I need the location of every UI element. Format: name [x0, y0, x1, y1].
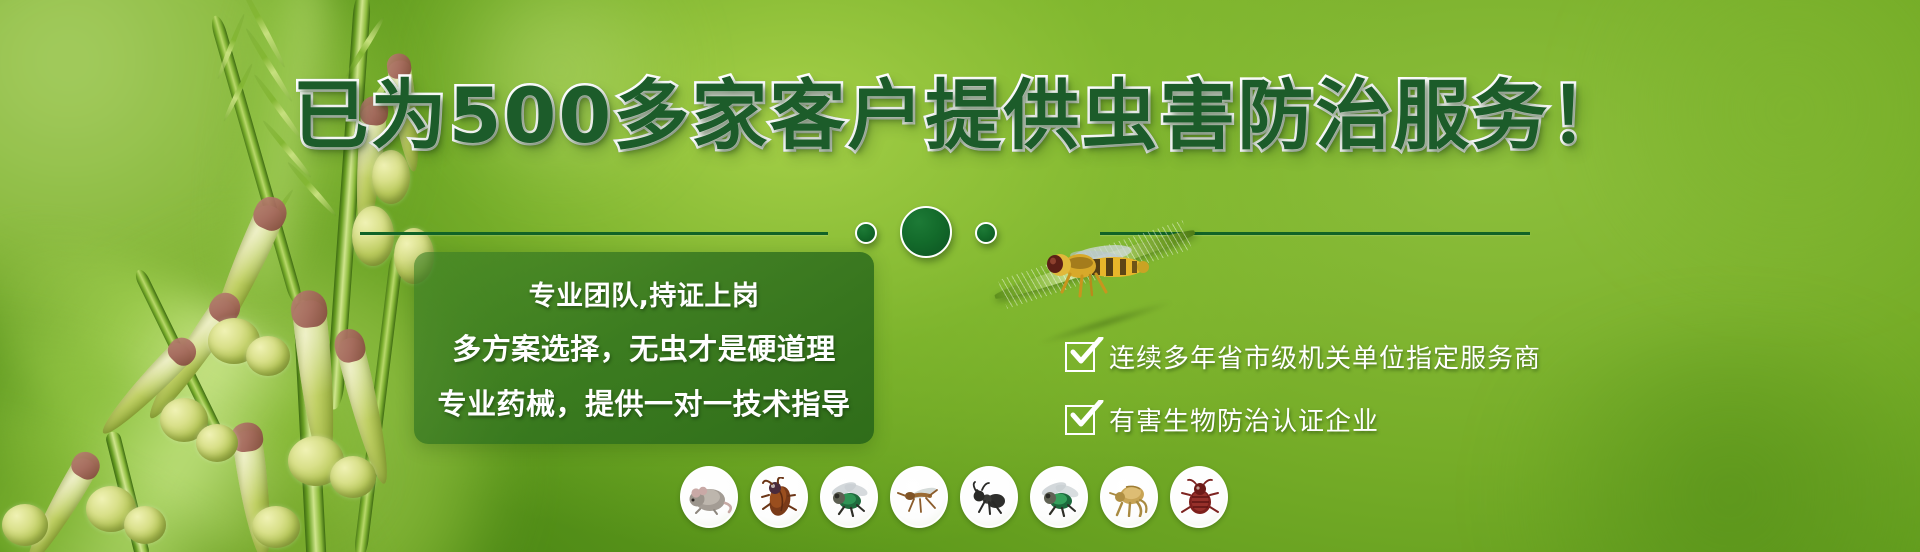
mouse-icon	[686, 477, 732, 517]
blowfly-icon	[1036, 477, 1082, 517]
checkbox-checked-icon	[1065, 405, 1095, 435]
decor-dot-large	[900, 206, 952, 258]
bedbug-icon	[1176, 477, 1222, 517]
pest-chip-flea[interactable]	[1100, 466, 1158, 528]
feature-line-3: 专业药械，提供一对一技术指导	[437, 381, 850, 423]
divider-left	[360, 232, 828, 235]
pest-chip-mosquito[interactable]	[890, 466, 948, 528]
credential-label: 有害生物防治认证企业	[1109, 401, 1379, 438]
decor-dot-small-right	[975, 222, 997, 244]
pest-chip-cockroach[interactable]	[750, 466, 808, 528]
checkbox-checked-icon	[1065, 342, 1095, 372]
fly-icon	[826, 477, 872, 517]
flea-icon	[1106, 477, 1152, 517]
decor-dot-small-left	[855, 222, 877, 244]
pest-type-strip	[680, 466, 1228, 528]
pest-chip-ant[interactable]	[960, 466, 1018, 528]
pest-chip-fly[interactable]	[820, 466, 878, 528]
credential-label: 连续多年省市级机关单位指定服务商	[1109, 338, 1541, 375]
feature-line-1: 专业团队,持证上岗	[529, 274, 760, 313]
feature-panel: 专业团队,持证上岗 多方案选择，无虫才是硬道理 专业药械，提供一对一技术指导	[414, 252, 874, 444]
pest-chip-bedbug[interactable]	[1170, 466, 1228, 528]
cockroach-icon	[756, 477, 802, 517]
mosquito-icon	[896, 477, 942, 517]
hoverfly-image	[1040, 240, 1158, 300]
page-title: 已为500多家客户提供虫害防治服务！	[0, 78, 1920, 154]
pest-control-hero-banner: 已为500多家客户提供虫害防治服务！	[0, 0, 1920, 552]
credentials-list: 连续多年省市级机关单位指定服务商 有害生物防治认证企业	[1065, 338, 1541, 438]
list-item: 连续多年省市级机关单位指定服务商	[1065, 338, 1541, 375]
pest-chip-blowfly[interactable]	[1030, 466, 1088, 528]
pest-chip-mouse[interactable]	[680, 466, 738, 528]
list-item: 有害生物防治认证企业	[1065, 401, 1541, 438]
ant-icon	[966, 477, 1012, 517]
feature-line-2: 多方案选择，无虫才是硬道理	[452, 326, 836, 368]
